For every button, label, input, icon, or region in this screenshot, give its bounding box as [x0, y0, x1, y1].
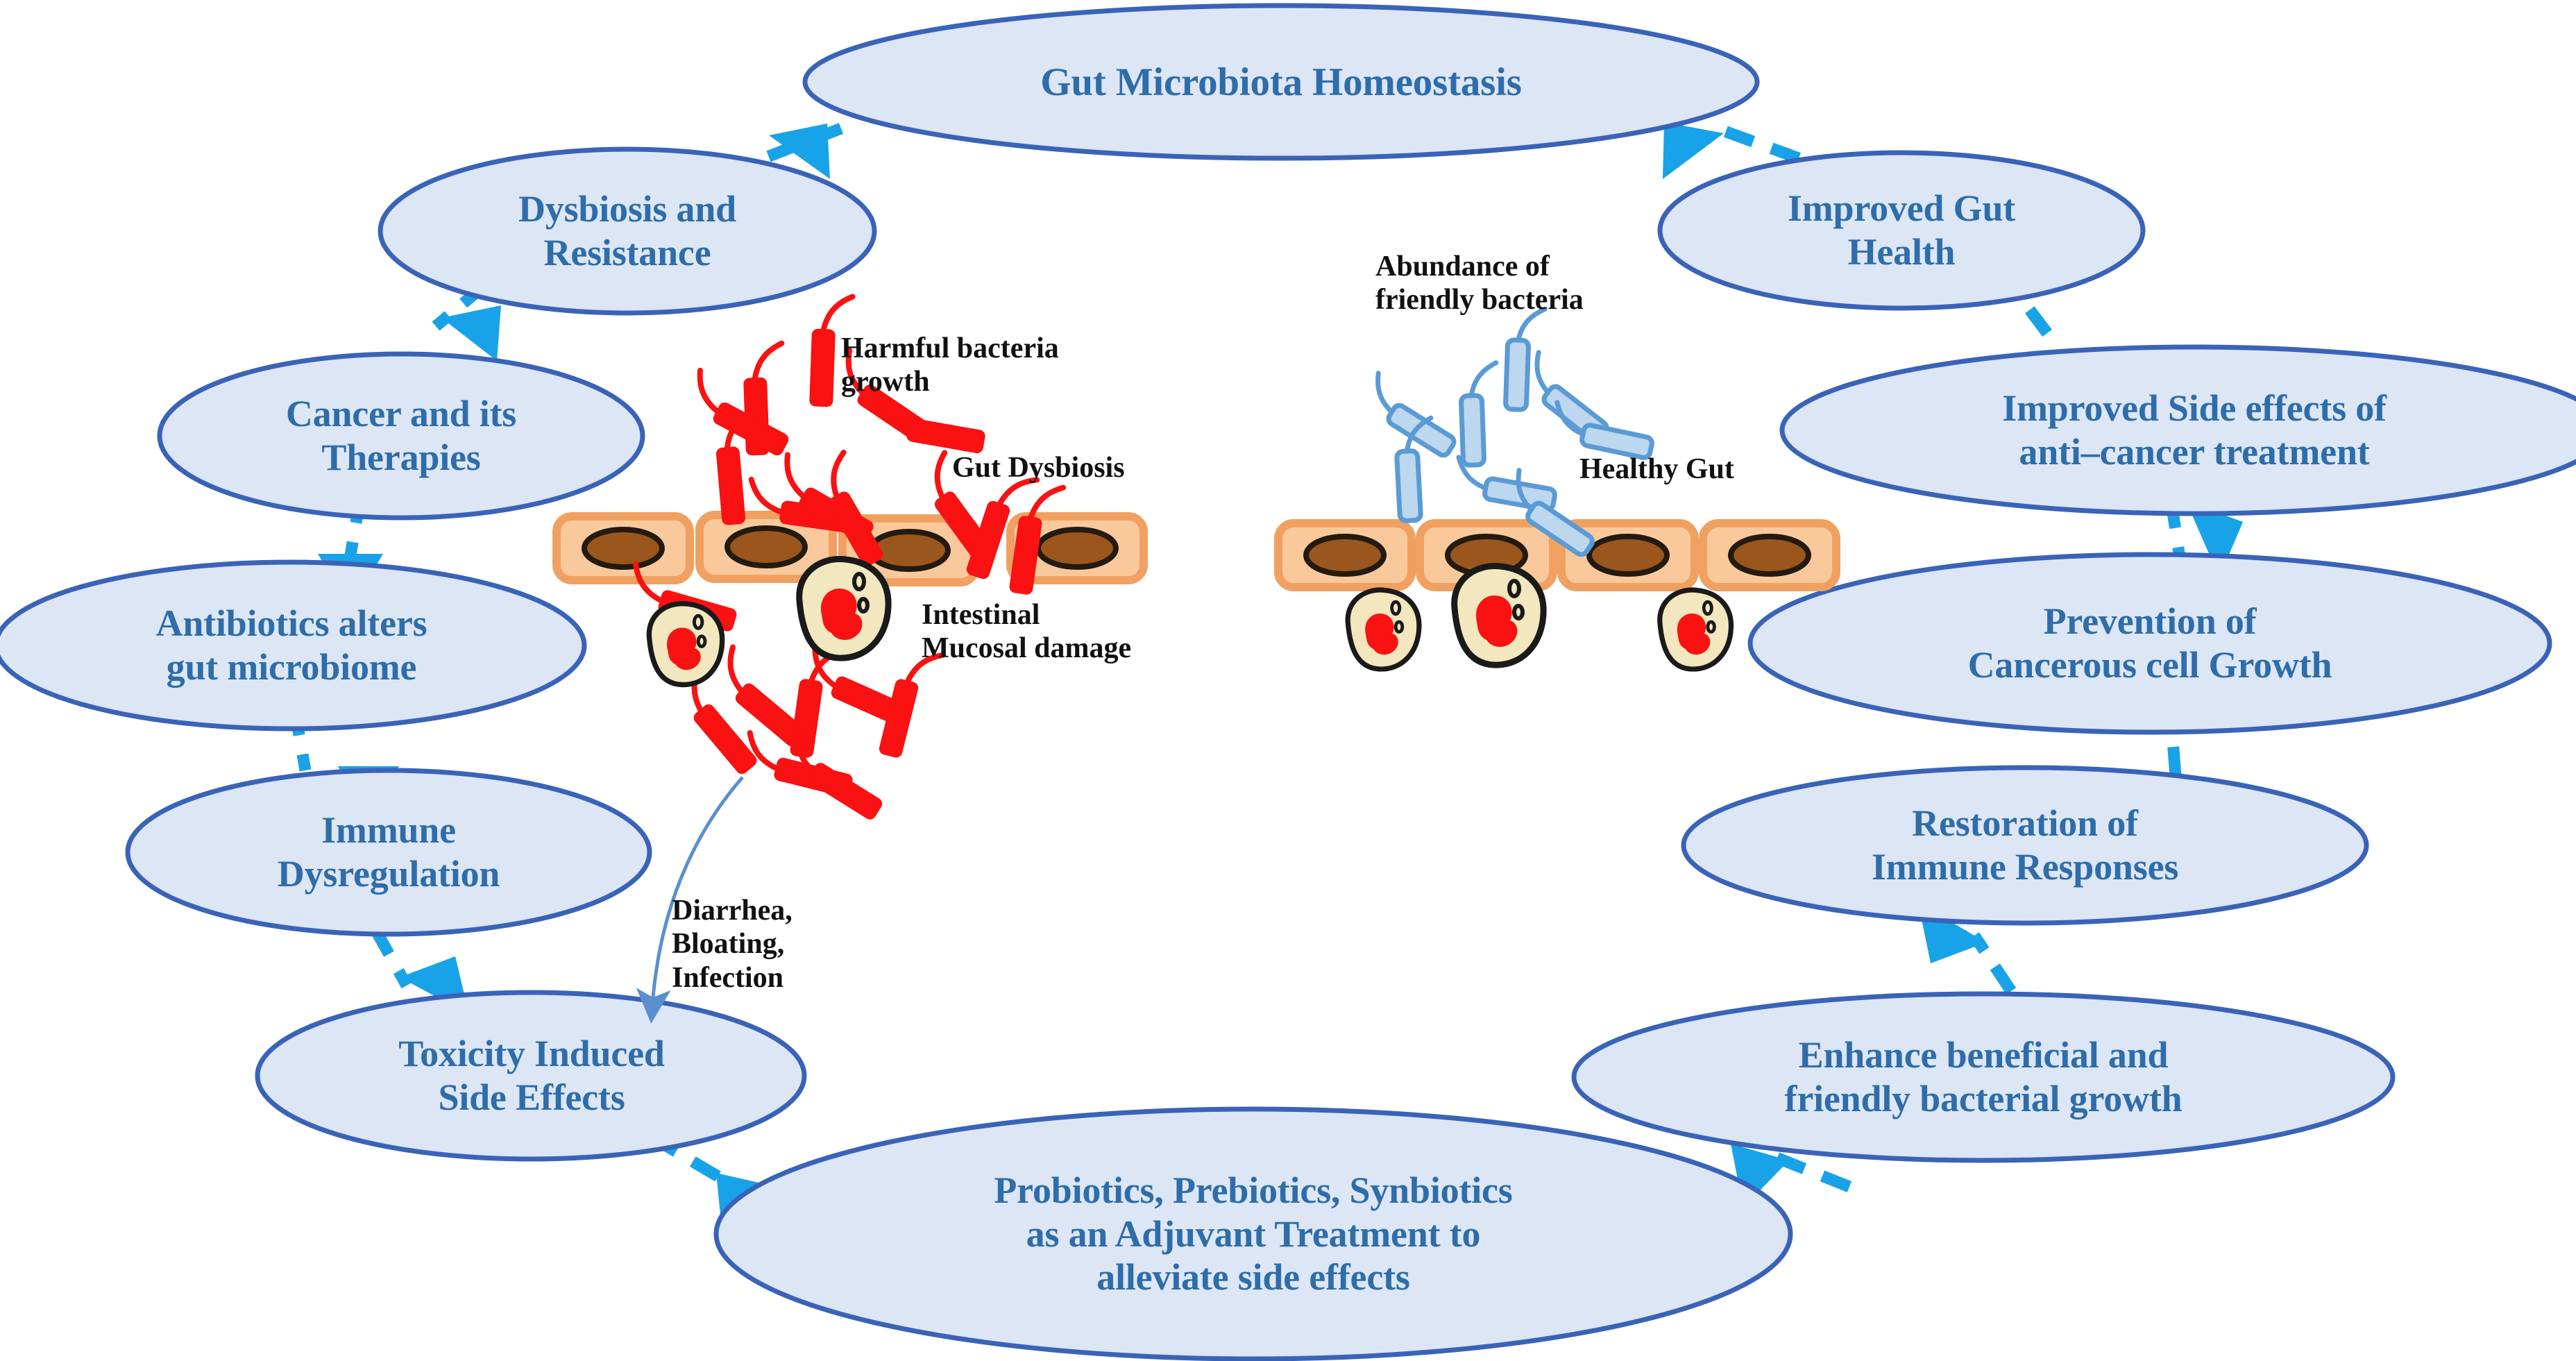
dysbiotic-gut-illustration: [557, 295, 1144, 1006]
node-immune-dys: [128, 770, 650, 934]
node-restoration: [1684, 768, 2366, 923]
node-improved-side: [1782, 347, 2576, 514]
node-prevention: [1750, 555, 2550, 732]
symptoms-arrow: [652, 777, 743, 1006]
node-homeostasis: [805, 6, 1757, 158]
diagram-graphics: [0, 0, 2576, 1361]
node-dysbiosis: [380, 149, 874, 313]
healthy-gut-illustration: [1278, 308, 1836, 670]
node-enhance: [1574, 994, 2393, 1160]
node-cancer: [160, 354, 643, 518]
node-improved-gut: [1660, 153, 2143, 308]
node-ellipses: [0, 6, 2576, 1359]
diagram-canvas: Gut Microbiota Homeostasis Dysbiosis and…: [0, 0, 2576, 1361]
node-toxicity: [257, 992, 804, 1159]
node-probiotics: [716, 1109, 1790, 1359]
node-antibiotics: [0, 562, 584, 729]
